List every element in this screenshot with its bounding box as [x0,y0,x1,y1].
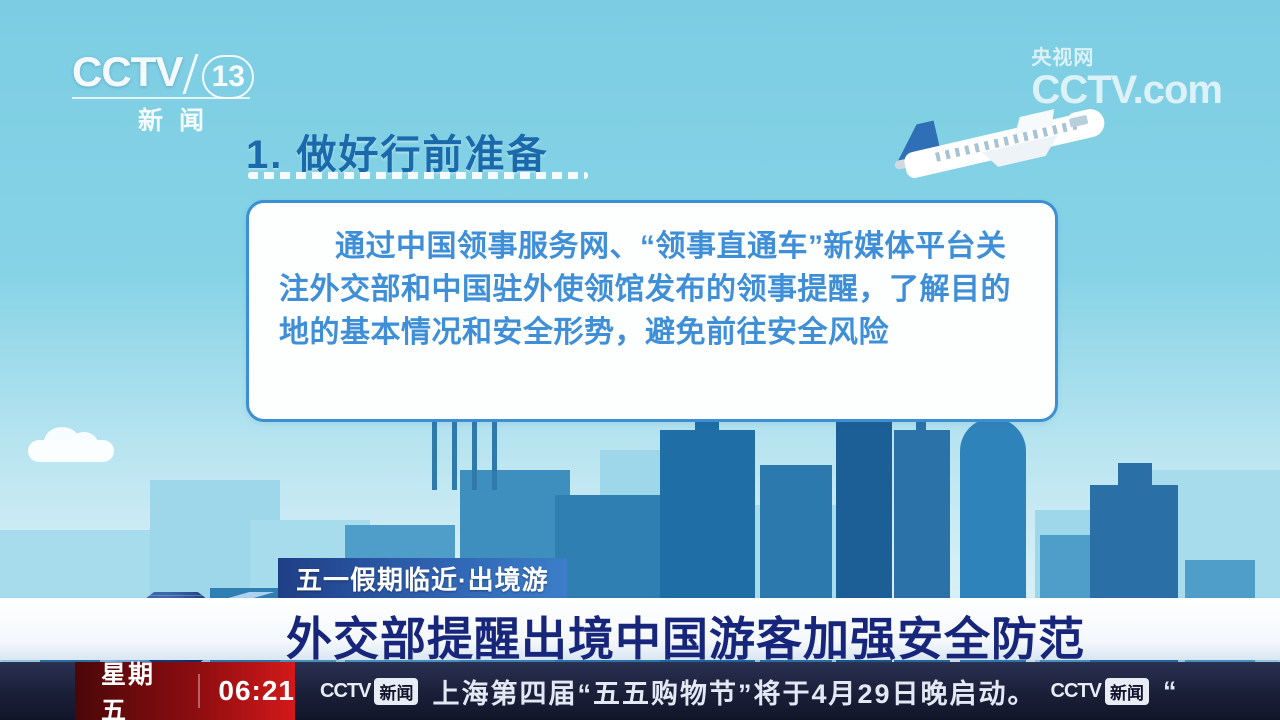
lower-third-headline: 外交部提醒出境中国游客加强安全防范 [286,603,1085,669]
watermark-suffix: .com [1133,68,1222,112]
watermark-brand: CCTV [1031,68,1132,112]
lower-third-kicker: 五一假期临近·出境游 [278,558,567,598]
ticker-brand-badge-2: CCTV 新闻 [1051,678,1149,705]
weekday-label: 星期五 [101,655,180,720]
news-ticker: 星期五 06:21 CCTV 新闻 上海第四届“五五购物节”将于4月29日晚启动… [0,662,1280,720]
channel-logo-cctv: CCTV [72,48,182,95]
info-card: 通过中国领事服务网、“领事直通车”新媒体平台关注外交部和中国驻外使领馆发布的领事… [246,200,1058,422]
ticker-brand-news-2: 新闻 [1105,678,1149,705]
section-title: 做好行前准备 [296,133,548,177]
ticker-brand-cctv: CCTV [320,680,370,703]
ticker-next-item: “ [1163,676,1177,707]
section-underline [248,172,588,179]
clock-divider [198,674,200,708]
channel-logo: CCTV 13 新闻 [72,48,272,134]
channel-logo-sub: 新闻 [72,101,272,137]
time-label: 06:21 [218,675,295,707]
site-watermark: 央视网 CCTV.com [1031,48,1222,110]
ticker-brand-cctv-2: CCTV [1051,680,1101,703]
lower-third-bar: 外交部提醒出境中国游客加强安全防范 [0,598,1280,660]
section-number: 1. [246,133,283,177]
ticker-content: CCTV 新闻 上海第四届“五五购物节”将于4月29日晚启动。 CCTV 新闻 … [300,662,1280,720]
ticker-brand-news: 新闻 [374,678,418,705]
info-card-body: 通过中国领事服务网、“领事直通车”新媒体平台关注外交部和中国驻外使领馆发布的领事… [279,225,1025,354]
clock-widget: 星期五 06:21 [75,662,295,720]
broadcast-screen: CCTV 13 新闻 央视网 CCTV.com 1. 做好行前准备 通过中国领事… [0,0,1280,720]
ticker-brand-badge: CCTV 新闻 [320,678,418,705]
channel-logo-slash [182,54,198,94]
watermark-cn: 央视网 [1031,48,1222,68]
channel-logo-number: 13 [202,55,254,99]
ticker-item: 上海第四届“五五购物节”将于4月29日晚启动。 [432,672,1036,711]
